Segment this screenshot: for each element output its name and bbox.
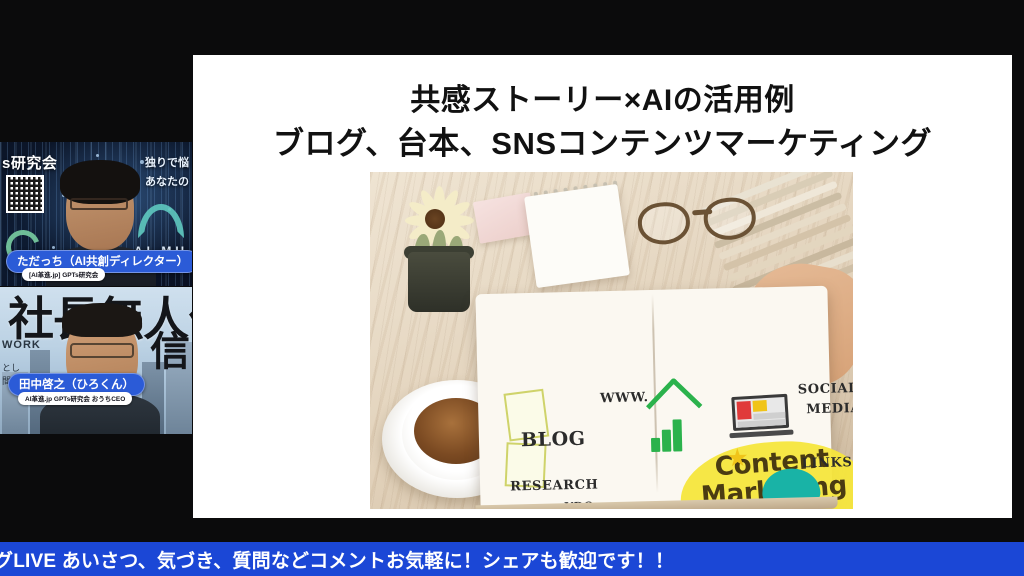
slide-title-line2: ブログ、台本、SNSコンテンツマーケティング [193,124,1012,164]
speech-bubble-green [749,502,800,509]
eyeglasses [637,196,760,250]
cam1-tagline-line2: あなたの [145,173,189,192]
bar-chart-icon [650,417,691,452]
cam1-tagline-line1: 独りで悩 [145,154,189,173]
bottom-ticker-bar: グLIVE あいさつ、気づき、質問などコメントお気軽に！シェアも歓迎です！！ [0,542,1024,576]
label-research: RESEARCH [510,477,599,494]
label-vdo: VDO [564,499,594,509]
flower-center [425,209,445,229]
participant-hair [62,303,142,337]
cam2-sub-badge: AI革進.jp GPTs研究会 おうちCEO [18,392,132,405]
open-notebook: Content Marketing [475,286,832,509]
ticker-message: グLIVE あいさつ、気づき、質問などコメントお気軽に！シェアも歓迎です！！ [0,546,674,573]
laptop-icon [729,394,792,441]
cam1-sub-badge: [AI革進.jp] GPTs研究会 [22,268,105,281]
label-www: WWW. [600,390,649,406]
participant-glasses [70,343,134,358]
notepad [524,184,630,288]
qr-code [6,175,44,213]
label-links: LINKS [801,455,852,471]
shared-slide: 共感ストーリー×AIの活用例 ブログ、台本、SNSコンテンツマーケティング [193,55,1012,518]
cam2-bg-side-text: 信 [150,333,190,371]
cam2-bg-work-label: WORK [2,339,41,351]
label-blog: BLOG [521,428,586,452]
slide-title-line1: 共感ストーリー×AIの活用例 [193,81,1012,120]
content-marketing-title: Content Marketing [681,443,853,509]
slide-title: 共感ストーリー×AIの活用例 ブログ、台本、SNSコンテンツマーケティング [193,81,1012,164]
camera-tile-hirokun[interactable]: 社長無人化 信 WORK とし 間~ 田中啓之（ひろくん） AI革進.jp GP… [0,287,192,434]
participant-glasses [70,198,128,210]
stream-stage: 共感ストーリー×AIの活用例 ブログ、台本、SNSコンテンツマーケティング [0,0,1024,576]
cam1-bg-title: s研究会 [2,152,57,173]
cam1-bg-tagline: 独りで悩 あなたの [145,154,189,191]
flower-pot [408,252,470,312]
camera-tile-tadacchi[interactable]: s研究会 独りで悩 あなたの AI MU AI×Director ただっち（AI… [0,142,192,286]
label-social: SOCIAL [798,381,853,397]
content-marketing-photo: Content Marketing [370,172,853,509]
label-photo: PHOTO [507,506,556,509]
label-media: MEDIA [806,401,853,417]
